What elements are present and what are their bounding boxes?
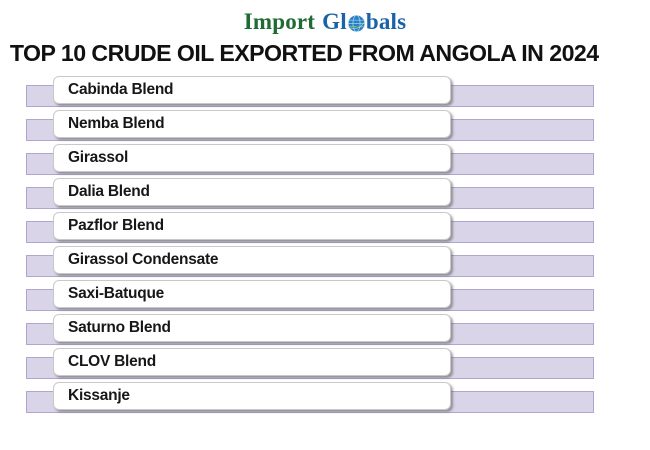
bar-label-text: Pazflor Blend — [54, 217, 164, 235]
chart-row: Dalia Blend — [0, 178, 650, 212]
brand-logo: Import Gl bals — [0, 0, 650, 38]
bar-label-box: Dalia Blend — [53, 178, 451, 206]
bar-label-text: Saturno Blend — [54, 319, 171, 337]
bar-label-box: Girassol — [53, 144, 451, 172]
chart-row: Pazflor Blend — [0, 212, 650, 246]
bar-label-text: Girassol Condensate — [54, 251, 218, 269]
bar-label-text: CLOV Blend — [54, 353, 156, 371]
bar-label-box: Cabinda Blend — [53, 76, 451, 104]
bar-label-text: Girassol — [54, 149, 128, 167]
chart-row: Girassol Condensate — [0, 246, 650, 280]
logo-text-globals-prefix: Gl — [322, 10, 347, 33]
chart-row: Nemba Blend — [0, 110, 650, 144]
chart-row: Cabinda Blend — [0, 76, 650, 110]
logo-text-import: Import — [244, 10, 315, 33]
bar-label-box: Girassol Condensate — [53, 246, 451, 274]
chart-row: Girassol — [0, 144, 650, 178]
bar-label-text: Nemba Blend — [54, 115, 164, 133]
chart-row: CLOV Blend — [0, 348, 650, 382]
logo-lockup: Import Gl bals — [244, 10, 407, 33]
bar-label-box: Kissanje — [53, 382, 451, 410]
bar-label-text: Dalia Blend — [54, 183, 150, 201]
bar-label-box: Saxi-Batuque — [53, 280, 451, 308]
bar-label-text: Kissanje — [54, 387, 130, 405]
bar-label-box: Pazflor Blend — [53, 212, 451, 240]
chart-row: Kissanje — [0, 382, 650, 416]
bar-label-box: CLOV Blend — [53, 348, 451, 376]
bar-label-box: Saturno Blend — [53, 314, 451, 342]
logo-text-globals-suffix: bals — [366, 10, 406, 33]
chart-title: TOP 10 CRUDE OIL EXPORTED FROM ANGOLA IN… — [0, 38, 640, 72]
bar-label-text: Cabinda Blend — [54, 81, 173, 99]
globe-icon — [347, 14, 366, 33]
bar-label-text: Saxi-Batuque — [54, 285, 164, 303]
chart-row: Saturno Blend — [0, 314, 650, 348]
chart-row: Saxi-Batuque — [0, 280, 650, 314]
bar-label-box: Nemba Blend — [53, 110, 451, 138]
bar-chart-rows: Cabinda BlendNemba BlendGirassolDalia Bl… — [0, 76, 650, 416]
